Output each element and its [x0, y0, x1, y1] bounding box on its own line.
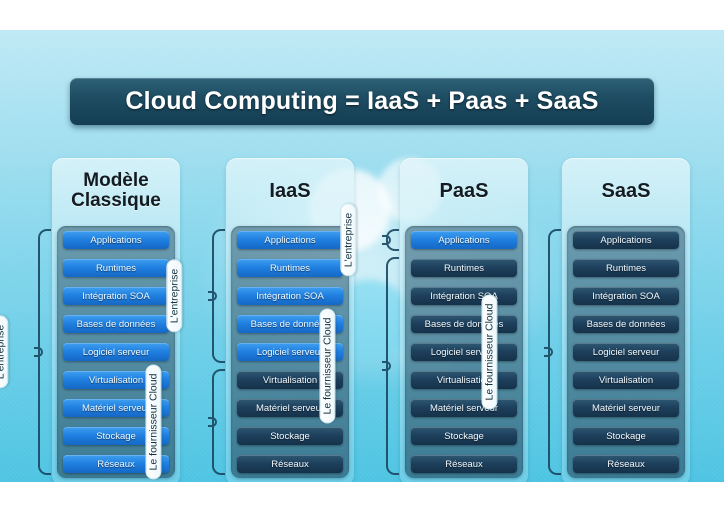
- curly-brace: [386, 257, 399, 475]
- column-header-line: SaaS: [602, 181, 651, 202]
- layer-bar[interactable]: Intégration SOA: [573, 287, 679, 305]
- brace-label: L'entreprise: [0, 316, 9, 389]
- brace-label: Le fournisseur Cloud: [482, 295, 498, 410]
- slide-title: Cloud Computing = IaaS + Paas + SaaS: [125, 87, 598, 116]
- curly-brace: [38, 229, 51, 475]
- slide-title-bar: Cloud Computing = IaaS + Paas + SaaS: [70, 78, 654, 125]
- brace-group-modele-classique-0: L'entreprise: [0, 229, 51, 475]
- column-saas: SaaSApplicationsRuntimesIntégration SOAB…: [562, 158, 690, 482]
- curly-brace: [212, 229, 225, 363]
- layer-bar[interactable]: Logiciel serveur: [573, 343, 679, 361]
- brace-group-saas-0: Le fournisseur Cloud: [451, 229, 561, 475]
- curly-brace: [386, 229, 399, 251]
- brace-group-iaas-1: Le fournisseur Cloud: [115, 369, 225, 475]
- layer-bar[interactable]: Applications: [573, 231, 679, 249]
- column-header-iaas: IaaS: [226, 158, 354, 224]
- layer-stack-saas: ApplicationsRuntimesIntégration SOABases…: [567, 226, 685, 478]
- column-header-line: Modèle: [83, 171, 148, 191]
- column-header-modele-classique: ModèleClassique: [52, 158, 180, 224]
- column-header-line: Classique: [71, 191, 161, 211]
- brace-label: L'entreprise: [167, 260, 183, 333]
- curly-brace: [548, 229, 561, 475]
- column-header-line: PaaS: [440, 181, 489, 202]
- layer-bar[interactable]: Bases de données: [573, 315, 679, 333]
- slide-canvas: Cloud Computing = IaaS + Paas + SaaS Mod…: [0, 30, 724, 482]
- layer-bar[interactable]: Réseaux: [573, 455, 679, 473]
- layer-bar[interactable]: Matériel serveur: [573, 399, 679, 417]
- brace-group-iaas-0: L'entreprise: [115, 229, 225, 363]
- brace-label: Le fournisseur Cloud: [320, 309, 336, 424]
- layer-bar[interactable]: Virtualisation: [573, 371, 679, 389]
- layer-bar[interactable]: Runtimes: [573, 259, 679, 277]
- layer-bar[interactable]: Stockage: [573, 427, 679, 445]
- brace-group-paas-1: Le fournisseur Cloud: [289, 257, 399, 475]
- column-header-saas: SaaS: [562, 158, 690, 224]
- brace-label: Le fournisseur Cloud: [146, 365, 162, 480]
- column-header-line: IaaS: [269, 181, 310, 202]
- brace-group-paas-0: L'entreprise: [289, 229, 399, 251]
- column-header-paas: PaaS: [400, 158, 528, 224]
- curly-brace: [212, 369, 225, 475]
